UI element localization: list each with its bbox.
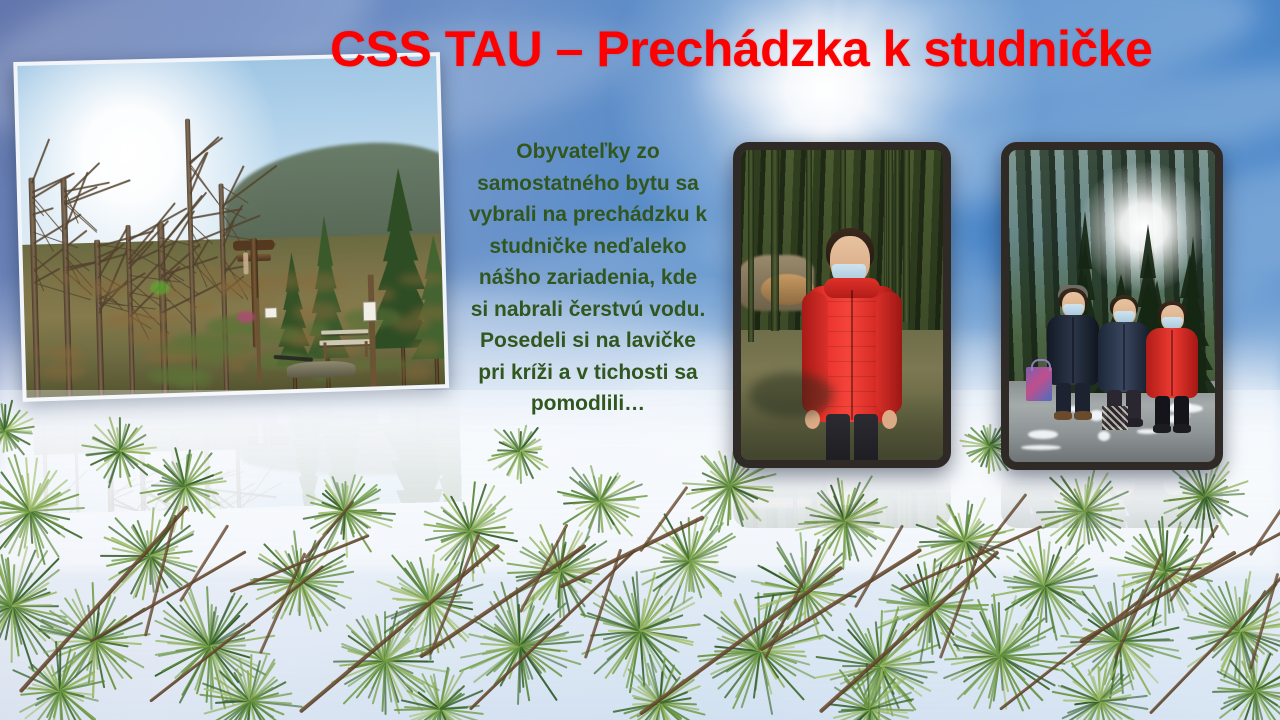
- person-jacket-zipper: [1171, 330, 1173, 396]
- scene-trunk: [771, 150, 779, 331]
- scene-person: [1037, 470, 1099, 502]
- person-jacket-zipper: [1072, 317, 1074, 383]
- scene-person: [1141, 300, 1203, 430]
- scene-trunk: [748, 150, 754, 342]
- body-paragraph: Obyvateľky zosamostatného bytu savybrali…: [452, 136, 724, 420]
- person-face-mask: [1164, 471, 1185, 483]
- person-face-mask: [1162, 317, 1183, 329]
- person-face-mask: [1058, 473, 1079, 485]
- person-face-mask: [828, 468, 862, 477]
- person-jacket: [1148, 470, 1200, 472]
- person-leg-left: [826, 414, 850, 461]
- person-shoe-left: [1054, 411, 1072, 420]
- scene-shadow: [742, 476, 834, 484]
- person-hand-right: [882, 410, 897, 429]
- person-leg-right: [1126, 390, 1141, 422]
- body-paragraph-line: pri kríži a v tichosti sa: [452, 357, 724, 389]
- person-arm-right: [876, 292, 902, 414]
- person-shoe-left: [1153, 424, 1171, 433]
- person-jacket-zipper: [851, 290, 853, 420]
- person-leg-right: [1174, 396, 1189, 428]
- scene-sign: [362, 301, 376, 321]
- person-leg-right: [854, 414, 878, 461]
- scene-snow-patch: [1098, 431, 1110, 441]
- person-shoe-right: [1173, 424, 1191, 433]
- scene-small-sign: [264, 307, 277, 318]
- scene-trunk: [933, 491, 936, 528]
- scene-trunk: [901, 489, 908, 528]
- person-jacket-zipper: [1067, 470, 1069, 472]
- scene-corpus: [243, 252, 249, 274]
- scene-spring-stones: [286, 361, 355, 379]
- scene-bench-leg: [365, 341, 368, 357]
- scene-snow-patch: [1021, 445, 1060, 450]
- scene-shadow: [749, 373, 834, 416]
- photo-woman-red-jacket[interactable]: [733, 142, 951, 468]
- body-paragraph-line: pomodlili…: [452, 388, 724, 420]
- body-paragraph-line: Posedeli si na lavičke: [452, 325, 724, 357]
- photo-woman-red-jacket-reflection: [733, 468, 951, 528]
- scene-patterned-trousers: [1101, 470, 1127, 480]
- scene-trunk: [740, 494, 747, 528]
- scene-person: [1143, 470, 1205, 500]
- photo-forest-cross[interactable]: [13, 52, 449, 402]
- scene-patterned-trousers: [1102, 406, 1128, 430]
- body-paragraph-line: si nabrali čerstvú vodu.: [452, 294, 724, 326]
- body-paragraph-line: Obyvateľky zo: [452, 136, 724, 168]
- person-jacket-zipper: [1123, 324, 1125, 390]
- scene-person: [792, 468, 902, 513]
- body-paragraph-line: studničke neďaleko: [452, 231, 724, 263]
- shopping-bag-handle: [1031, 359, 1051, 371]
- body-paragraph-line: vybrali na prechádzku k: [452, 199, 724, 231]
- shopping-bag: [1026, 367, 1052, 401]
- scene-person: [796, 228, 906, 461]
- body-paragraph-line: nášho zariadenia, kde: [452, 262, 724, 294]
- scene-bench-leg: [323, 342, 326, 358]
- person-leg-left: [1155, 396, 1170, 428]
- slide: CSS TAU – Prechádzka k studničke Obyvate…: [0, 0, 1280, 720]
- photo-three-people[interactable]: [1001, 142, 1223, 470]
- photo-three-people-reflection: [1001, 470, 1223, 528]
- page-title: CSS TAU – Prechádzka k studničke: [330, 20, 1250, 78]
- person-shoe-right: [1074, 411, 1092, 420]
- body-paragraph-line: samostatného bytu sa: [452, 168, 724, 200]
